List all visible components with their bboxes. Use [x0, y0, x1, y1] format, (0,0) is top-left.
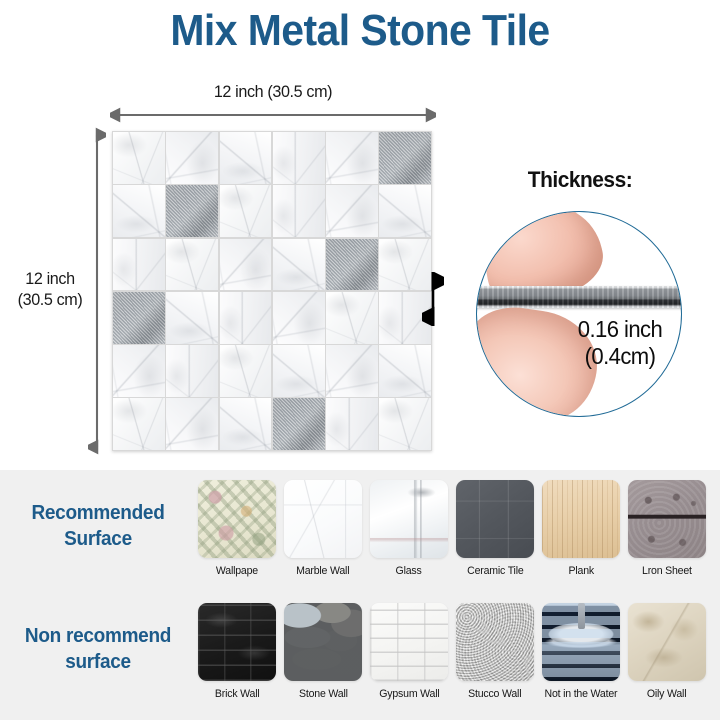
- tile-cell-marble: [220, 185, 272, 237]
- surface-thumb-label: Marble Wall: [296, 565, 349, 577]
- tile-cell-marble: [273, 132, 325, 184]
- product-overview-panel: Mix Metal Stone Tile 12 inch (30.5 cm) 1…: [0, 0, 720, 470]
- thickness-closeup-photo: [476, 211, 682, 417]
- surface-thumb-image: [370, 603, 448, 681]
- surface-thumb-image: [456, 603, 534, 681]
- recommended-heading-line1: Recommended: [31, 502, 164, 524]
- surface-thumb-image: [284, 480, 362, 558]
- surface-thumb-label: Plank: [568, 565, 593, 577]
- surface-thumb-label: Ceramic Tile: [467, 565, 523, 577]
- tile-cell-marble: [326, 132, 378, 184]
- tile-cell-marble: [220, 398, 272, 450]
- tile-cell-marble: [166, 398, 218, 450]
- tile-cell-marble: [220, 292, 272, 344]
- surface-thumb-item: Lron Sheet: [626, 480, 708, 577]
- thickness-value-label: 0.16 inch (0.4cm): [551, 316, 689, 370]
- surface-thumb-item: Gypsum Wall: [368, 603, 450, 700]
- tile-cell-metal: [166, 185, 218, 237]
- tile-cell-marble: [113, 345, 165, 397]
- tile-cell-marble: [326, 292, 378, 344]
- surface-thumb-item: Ceramic Tile: [454, 480, 536, 577]
- surface-thumb-image: [542, 603, 620, 681]
- surface-thumb-label: Wallpape: [216, 565, 258, 577]
- tile-sample-grid: [112, 131, 432, 451]
- surface-compatibility-panel: Recommended Surface WallpapeMarble WallG…: [0, 470, 720, 720]
- thickness-value-line2: (0.4cm): [585, 343, 656, 369]
- tile-cell-marble: [326, 185, 378, 237]
- tile-cell-marble: [166, 292, 218, 344]
- non-recommended-surface-heading: Non recommend surface: [9, 623, 188, 675]
- surface-thumb-item: Brick Wall: [196, 603, 278, 700]
- tile-cell-marble: [326, 345, 378, 397]
- tile-cell-marble: [220, 345, 272, 397]
- tile-cell-marble: [113, 398, 165, 450]
- surface-thumb-item: Glass: [368, 480, 450, 577]
- surface-thumb-label: Not in the Water: [545, 688, 618, 700]
- tile-cell-metal: [379, 132, 431, 184]
- tile-cell-marble: [379, 345, 431, 397]
- surface-thumb-item: Wallpape: [196, 480, 278, 577]
- thickness-measure-arrow: [422, 272, 444, 326]
- surface-thumb-label: Stucco Wall: [468, 688, 521, 700]
- width-dimension-arrow: [110, 106, 436, 124]
- surface-thumb-label: Glass: [396, 565, 422, 577]
- tile-edge-strip: [477, 286, 682, 308]
- tile-cell-marble: [273, 185, 325, 237]
- surface-thumb-image: [370, 480, 448, 558]
- tile-cell-marble: [113, 185, 165, 237]
- tile-cell-marble: [166, 345, 218, 397]
- tile-cell-marble: [166, 239, 218, 291]
- surface-thumb-image: [628, 603, 706, 681]
- tile-cell-marble: [379, 185, 431, 237]
- thickness-title: Thickness:: [483, 167, 677, 193]
- surface-thumb-label: Gypsum Wall: [379, 688, 439, 700]
- surface-thumb-image: [284, 603, 362, 681]
- surface-thumb-label: Oily Wall: [647, 688, 687, 700]
- surface-thumb-image: [198, 480, 276, 558]
- tile-cell-marble: [379, 398, 431, 450]
- recommended-surface-thumbnails: WallpapeMarble WallGlassCeramic TilePlan…: [196, 480, 712, 577]
- width-dimension-label: 12 inch (30.5 cm): [121, 82, 425, 102]
- tile-cell-metal: [273, 398, 325, 450]
- surface-thumb-image: [456, 480, 534, 558]
- height-dimension-label: 12 inch (30.5 cm): [4, 268, 95, 310]
- non-recommended-heading-line1: Non recommend: [25, 625, 171, 647]
- tile-cell-marble: [220, 239, 272, 291]
- surface-thumb-item: Oily Wall: [626, 603, 708, 700]
- surface-thumb-image: [628, 480, 706, 558]
- non-recommended-surface-thumbnails: Brick WallStone WallGypsum WallStucco Wa…: [196, 603, 712, 700]
- non-recommended-surface-row: Non recommend surface Brick WallStone Wa…: [0, 601, 720, 720]
- recommended-surface-heading: Recommended Surface: [9, 500, 188, 552]
- surface-thumb-image: [542, 480, 620, 558]
- surface-thumb-label: Brick Wall: [215, 688, 260, 700]
- height-dimension-line2: (30.5 cm): [18, 290, 83, 309]
- surface-thumb-item: Plank: [540, 480, 622, 577]
- recommended-heading-line2: Surface: [64, 528, 132, 550]
- surface-thumb-item: Not in the Water: [540, 603, 622, 700]
- tile-cell-marble: [326, 398, 378, 450]
- tile-cell-marble: [273, 292, 325, 344]
- recommended-surface-row: Recommended Surface WallpapeMarble WallG…: [0, 478, 720, 597]
- tile-cell-marble: [166, 132, 218, 184]
- tile-cell-metal: [326, 239, 378, 291]
- tile-cell-marble: [220, 132, 272, 184]
- thickness-value-line1: 0.16 inch: [578, 316, 662, 342]
- surface-thumb-item: Stone Wall: [282, 603, 364, 700]
- surface-thumb-item: Stucco Wall: [454, 603, 536, 700]
- height-dimension-line1: 12 inch: [25, 269, 74, 288]
- height-dimension-arrow: [88, 126, 106, 456]
- tile-cell-marble: [113, 239, 165, 291]
- tile-cell-marble: [273, 239, 325, 291]
- surface-thumb-label: Lron Sheet: [642, 565, 692, 577]
- tile-cell-marble: [113, 132, 165, 184]
- page-title: Mix Metal Stone Tile: [25, 6, 695, 56]
- non-recommended-heading-line2: surface: [65, 651, 131, 673]
- surface-thumb-label: Stone Wall: [299, 688, 348, 700]
- surface-thumb-image: [198, 603, 276, 681]
- surface-thumb-item: Marble Wall: [282, 480, 364, 577]
- tile-cell-metal: [113, 292, 165, 344]
- tile-cell-marble: [273, 345, 325, 397]
